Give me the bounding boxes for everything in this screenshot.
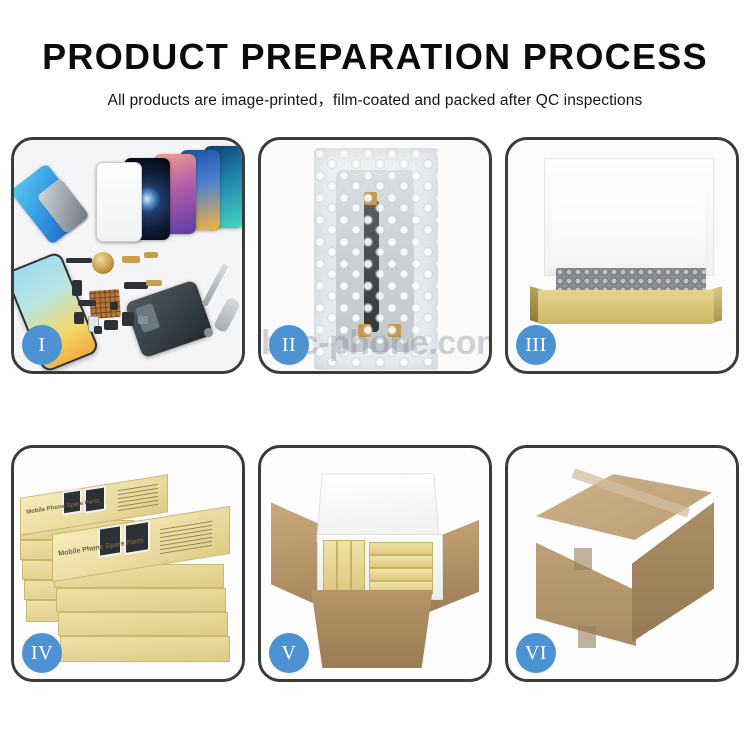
page-subtitle: All products are image-printed，film-coat… xyxy=(0,88,750,110)
step-badge-6: VI xyxy=(516,633,556,673)
step-panel-3[interactable]: III xyxy=(505,137,739,374)
process-steps-grid: I bsc-phone.com II III xyxy=(11,137,739,682)
page-title: PRODUCT PREPARATION PROCESS xyxy=(0,38,750,76)
step-panel-4[interactable]: Mobile Phone Spare Parts Mobile Phone Sp… xyxy=(11,445,245,682)
step-badge-4: IV xyxy=(22,633,62,673)
page-header: PRODUCT PREPARATION PROCESS All products… xyxy=(0,0,750,110)
step-panel-1[interactable]: I xyxy=(11,137,245,374)
step-badge-3: III xyxy=(516,325,556,365)
step-panel-2[interactable]: bsc-phone.com II xyxy=(258,137,492,374)
step-panel-6[interactable]: VI xyxy=(505,445,739,682)
step-badge-2: II xyxy=(269,325,309,365)
step-panel-5[interactable]: V xyxy=(258,445,492,682)
step-badge-1: I xyxy=(22,325,62,365)
step-badge-5: V xyxy=(269,633,309,673)
